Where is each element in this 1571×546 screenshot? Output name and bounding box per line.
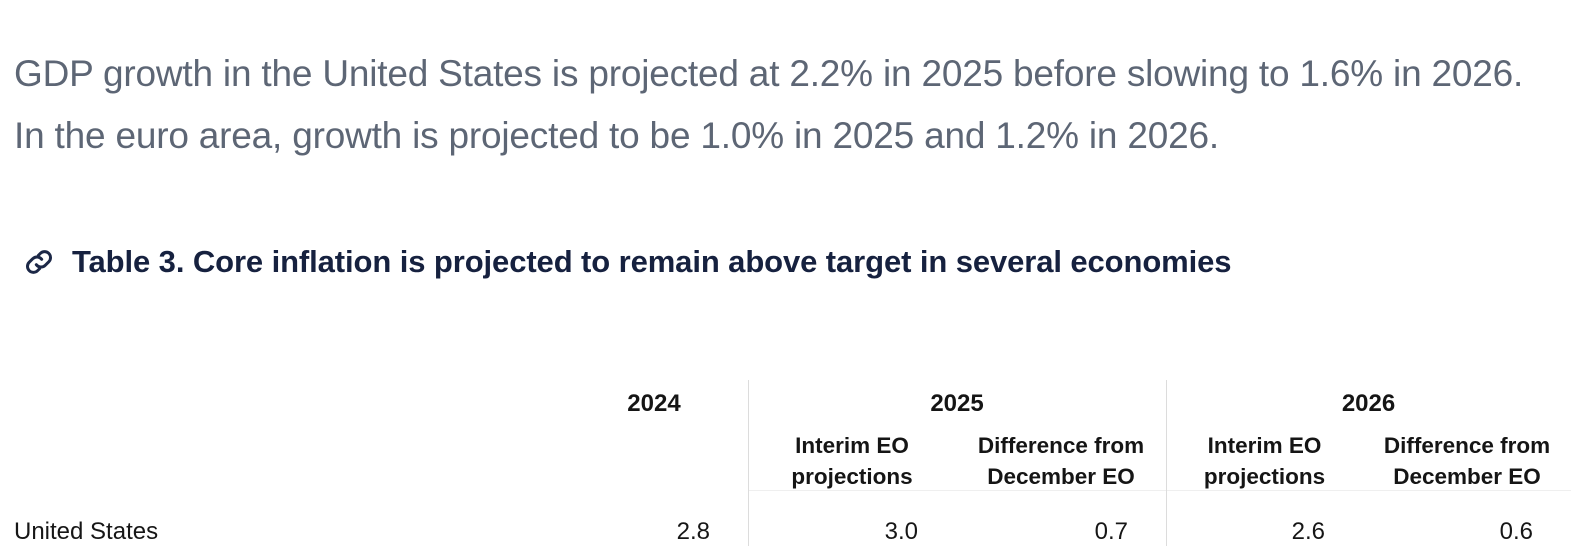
sub-header-line-1: Difference from [1384, 433, 1550, 458]
sub-header-line-2: December EO [987, 464, 1135, 489]
column-divider-2026 [1166, 380, 1167, 546]
sub-header-line-2: projections [1204, 464, 1325, 489]
sub-header-line-1: Interim EO [1208, 433, 1322, 458]
sub-header-line-2: December EO [1393, 464, 1541, 489]
year-group-header-row: 2024 2025 2026 [0, 372, 1571, 418]
sub-header-line-1: Interim EO [795, 433, 909, 458]
header-rule [748, 490, 1571, 491]
table-3: 2024 2025 2026 Interim EO projections Di… [0, 372, 1571, 546]
sub-header-2025-difference: Difference from December EO [956, 418, 1166, 492]
year-group-2026: 2026 [1166, 372, 1571, 418]
cell-2026-difference: 0.6 [1363, 492, 1571, 546]
sub-header-2026-difference: Difference from December EO [1363, 418, 1571, 492]
sub-header-blank-label [0, 418, 560, 492]
anchor-link-icon[interactable] [22, 245, 56, 279]
sub-header-line-2: projections [791, 464, 912, 489]
year-group-2024: 2024 [560, 372, 748, 418]
document-page: GDP growth in the United States is proje… [0, 0, 1571, 546]
table-caption-title: Table 3. Core inflation is projected to … [72, 236, 1231, 288]
row-label-united-states: United States [0, 492, 560, 546]
table-caption: Table 3. Core inflation is projected to … [22, 236, 1312, 288]
year-group-blank [0, 372, 560, 418]
cell-2025-difference: 0.7 [956, 492, 1166, 546]
intro-paragraph: GDP growth in the United States is proje… [14, 43, 1559, 167]
sub-header-line-1: Difference from [978, 433, 1144, 458]
sub-header-blank-2024 [560, 418, 748, 492]
sub-header-2026-interim: Interim EO projections [1166, 418, 1363, 492]
table-row: United States 2.8 3.0 0.7 2.6 0.6 [0, 492, 1571, 546]
year-group-2025: 2025 [748, 372, 1166, 418]
core-inflation-table: 2024 2025 2026 Interim EO projections Di… [0, 372, 1571, 546]
cell-2025-interim: 3.0 [748, 492, 956, 546]
sub-header-2025-interim: Interim EO projections [748, 418, 956, 492]
cell-2024: 2.8 [560, 492, 748, 546]
cell-2026-interim: 2.6 [1166, 492, 1363, 546]
sub-header-row: Interim EO projections Difference from D… [0, 418, 1571, 492]
column-divider-2025 [748, 380, 749, 546]
